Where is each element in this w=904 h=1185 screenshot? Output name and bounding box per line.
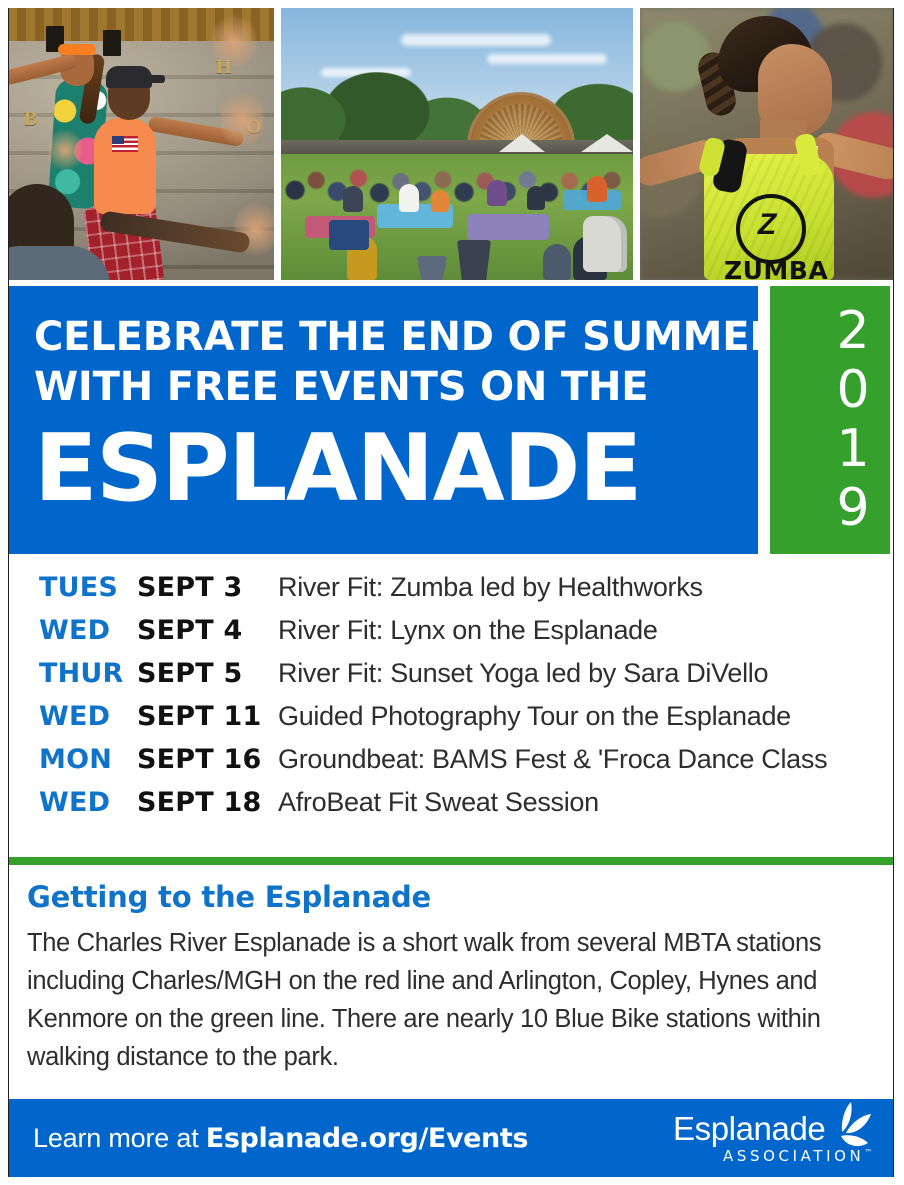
- photo-strip: H B PA O: [8, 8, 894, 280]
- year-digit-2: 0: [830, 361, 876, 420]
- photo2-seated-person: [487, 180, 507, 206]
- headline-line-2: WITH FREE EVENTS ON THE: [34, 362, 758, 412]
- event-row[interactable]: TUES SEPT 3 River Fit: Zumba led by Heal…: [39, 572, 893, 615]
- green-divider-rule: [9, 857, 893, 865]
- photo2-seated-person: [343, 186, 363, 212]
- esplanade-association-logo[interactable]: Esplanade ASSOCIATION™: [673, 1112, 869, 1165]
- event-date: SEPT 4: [137, 615, 278, 646]
- three-leaf-icon: [817, 1102, 873, 1154]
- getting-there-body: The Charles River Esplanade is a short w…: [27, 924, 865, 1076]
- event-date: SEPT 11: [137, 701, 278, 732]
- photo1-orange-headband: [58, 44, 96, 55]
- learn-more-prefix: Learn more at: [33, 1123, 206, 1153]
- event-date: SEPT 18: [137, 787, 278, 818]
- photo2-seated-person: [399, 184, 419, 212]
- year-digit-3: 1: [830, 420, 876, 479]
- event-schedule: TUES SEPT 3 River Fit: Zumba led by Heal…: [9, 572, 893, 830]
- event-row[interactable]: WED SEPT 11 Guided Photography Tour on t…: [39, 701, 893, 744]
- year-block: 2 0 1 9: [770, 286, 890, 554]
- esplanade-events-flyer: H B PA O: [0, 0, 904, 1185]
- photo1-orange-tank-top: [94, 118, 156, 214]
- headline-line-1: CELEBRATE THE END OF SUMMER: [34, 312, 758, 362]
- photo2-stroller: [583, 216, 627, 272]
- getting-to-the-esplanade-section: Getting to the Esplanade The Charles Riv…: [9, 880, 893, 1076]
- photo2-lawn-chair: [457, 240, 491, 280]
- year-digit-4: 9: [830, 479, 876, 538]
- event-title: River Fit: Zumba led by Healthworks: [278, 572, 703, 603]
- photo2-folding-wagon: [329, 220, 369, 250]
- event-row[interactable]: THUR SEPT 5 River Fit: Sunset Yoga led b…: [39, 658, 893, 701]
- photo2-cloud: [401, 34, 551, 46]
- logo-wordmark: Esplanade: [673, 1112, 825, 1146]
- event-title: Groundbeat: BAMS Fest & 'Froca Dance Cla…: [278, 744, 827, 775]
- event-day: MON: [39, 744, 137, 775]
- photo1-raised-hand: [220, 94, 264, 146]
- event-title: River Fit: Lynx on the Esplanade: [278, 615, 658, 646]
- footer-bar: Learn more at Esplanade.org/Events Espla…: [9, 1099, 893, 1177]
- event-row[interactable]: WED SEPT 18 AfroBeat Fit Sweat Session: [39, 787, 893, 830]
- photo-woman-in-zumba-tank-top: Z ZUMBA: [640, 8, 894, 280]
- event-day: THUR: [39, 658, 137, 689]
- photo2-lawn-chair: [417, 256, 447, 280]
- headline-band: CELEBRATE THE END OF SUMMER WITH FREE EV…: [8, 286, 758, 554]
- event-day: WED: [39, 701, 137, 732]
- event-date: SEPT 3: [137, 572, 278, 603]
- headline-esplanade: ESPLANADE: [34, 416, 758, 520]
- photo1-raised-hand: [48, 130, 82, 170]
- event-day: WED: [39, 787, 137, 818]
- event-title: River Fit: Sunset Yoga led by Sara DiVel…: [278, 658, 768, 689]
- year-digit-1: 2: [830, 302, 876, 361]
- event-date: SEPT 16: [137, 744, 278, 775]
- photo2-seated-person: [527, 186, 545, 210]
- photo1-raised-hand: [212, 16, 256, 68]
- photo3-zumba-wordmark: ZUMBA: [724, 256, 816, 280]
- photo1-engraved-letter: B: [24, 108, 37, 131]
- photo-zumba-dance-class-on-stone-steps: H B PA O: [8, 8, 274, 280]
- event-date: SEPT 5: [137, 658, 278, 689]
- event-row[interactable]: WED SEPT 4 River Fit: Lynx on the Esplan…: [39, 615, 893, 658]
- photo2-foreground-seated-person: [543, 244, 571, 280]
- learn-more-url[interactable]: Esplanade.org/Events: [206, 1123, 528, 1154]
- event-row[interactable]: MON SEPT 16 Groundbeat: BAMS Fest & 'Fro…: [39, 744, 893, 787]
- photo2-seated-person: [587, 176, 607, 202]
- photo2-seated-person: [431, 190, 449, 212]
- photo3-zumba-z-glyph: Z: [748, 206, 786, 244]
- photo2-cloud: [487, 54, 607, 64]
- event-day: WED: [39, 615, 137, 646]
- photo1-wall-slot: [103, 30, 121, 56]
- photo1-us-flag-print: [112, 136, 138, 152]
- learn-more-text: Learn more at Esplanade.org/Events: [33, 1123, 528, 1154]
- photo1-baseball-cap: [106, 66, 152, 88]
- photo2-picnic-blanket: [467, 214, 549, 240]
- getting-there-title: Getting to the Esplanade: [27, 880, 865, 914]
- event-title: Guided Photography Tour on the Esplanade: [278, 701, 791, 732]
- event-day: TUES: [39, 572, 137, 603]
- photo-crowd-on-lawn-at-hatch-shell: [281, 8, 633, 280]
- event-title: AfroBeat Fit Sweat Session: [278, 787, 599, 818]
